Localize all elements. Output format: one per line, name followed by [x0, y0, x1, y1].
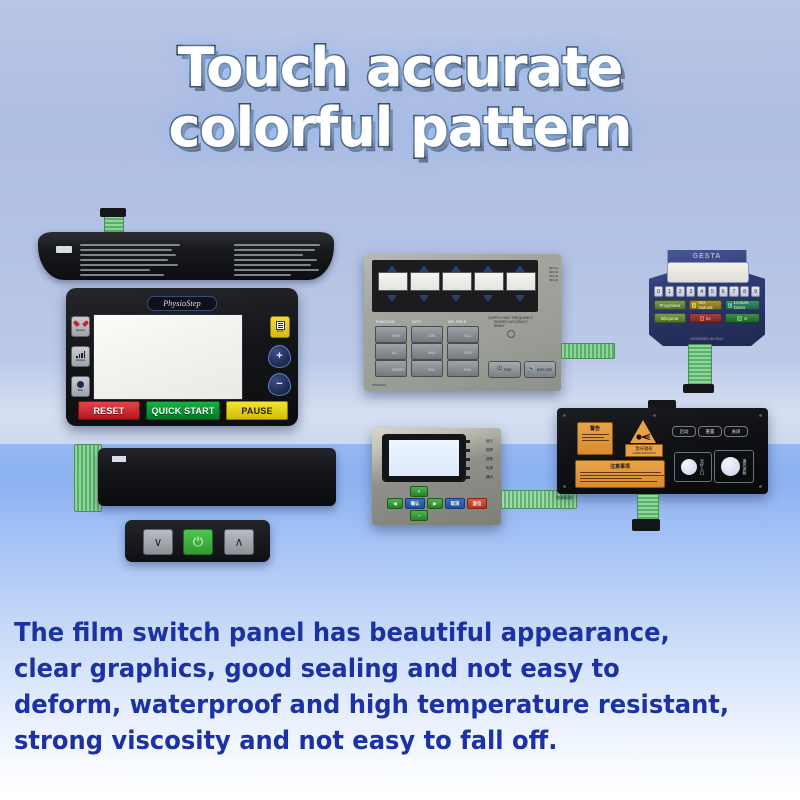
screw-icon-tr [759, 414, 762, 417]
power-button-label: PWR [504, 368, 511, 372]
down-key[interactable]: ∨ [143, 529, 173, 555]
enter-button[interactable]: Enter [71, 376, 90, 397]
speaker-button-label: EXPLODE [537, 368, 552, 372]
quick-start-button[interactable]: QUICK START [146, 401, 220, 420]
screw-icon-tl [563, 414, 566, 417]
product-three-key-bar: ∨ ⏻ ∧ [125, 520, 270, 562]
start-button[interactable]: 启动 [672, 426, 696, 437]
product-gesta-keypad: GESTA 0 1 2 3 4 5 6 7 8 9 Programar V Vo… [649, 250, 765, 346]
pause-button-label: PAUSE [241, 406, 272, 416]
led-indicator-1 [465, 449, 470, 452]
keypad-label-2: TARGET [392, 368, 404, 372]
port-circle-icon-1 [681, 459, 697, 475]
port-circle-icon-2 [721, 457, 740, 476]
gesta-display [667, 262, 749, 283]
bottom-button-row: ⏻ PWR 🔊 EXPLODE [488, 361, 556, 378]
up-arrow-icon-4[interactable] [483, 265, 493, 272]
bloquear-button[interactable]: Bloquear [654, 313, 686, 323]
keypad-label-1: ALL [392, 351, 397, 355]
st-label: st [744, 316, 747, 321]
increase-button[interactable]: + [410, 486, 428, 497]
num-key-8[interactable]: 8 [740, 286, 749, 297]
laser-beam-icon [635, 430, 651, 443]
left-arrow-icon: ◀ [393, 501, 396, 507]
cancel-button[interactable]: 取消 [445, 498, 465, 509]
enter-button-label: Enter [78, 389, 83, 392]
down-arrow-icon-2[interactable] [419, 295, 429, 302]
speaker-button[interactable]: 🔊 EXPLODE [524, 361, 557, 378]
confirm-button-label: 确认 [411, 501, 420, 507]
scroll-menu-button[interactable]: Scroll [270, 316, 290, 338]
decrease-button[interactable]: − [268, 373, 291, 396]
num-key-7[interactable]: 7 [729, 286, 738, 297]
reset-button-label-3: 重置 [706, 429, 715, 435]
notice-line-0 [580, 472, 661, 473]
plus-icon: + [276, 351, 282, 362]
screw-icon-bl [563, 485, 566, 488]
voz-natural-button[interactable]: V Voz Natural [689, 300, 722, 310]
keypad-key-5[interactable] [447, 343, 479, 360]
laser-hazard-label: 激光辐射 LASER RADIATION [625, 420, 661, 456]
kc-button[interactable]: K kc [689, 313, 722, 323]
workouts-button[interactable]: Workouts [71, 346, 90, 367]
kc-label: kc [706, 316, 710, 321]
screw-icon-br [759, 485, 762, 488]
keypad-key-2[interactable] [447, 326, 479, 343]
hazard-caption: 激光辐射 LASER RADIATION [625, 444, 663, 457]
frequency-scale: 500 Hz 200 Hz 100 Hz 050 Hz [549, 266, 558, 282]
product-laser-warning-panel: 警告 激光辐射 LASER RADIATION 注意事项 [557, 408, 768, 494]
programar-label: Programar [659, 303, 680, 308]
down-arrow-icon-3[interactable] [451, 295, 461, 302]
notice-label: 注意事项 [575, 460, 665, 488]
value-window-5 [506, 272, 536, 291]
warning-line-2 [582, 440, 609, 441]
black-label-body-2 [98, 448, 336, 506]
black-label-body [38, 232, 334, 280]
num-key-9[interactable]: 9 [751, 286, 760, 297]
screw-icon-tm [653, 414, 656, 417]
label-text-right [234, 244, 320, 279]
chevron-up-icon: ∧ [235, 535, 244, 549]
hazard-label-en: LASER RADIATION [626, 452, 662, 455]
reset-button-label: RESET [93, 406, 124, 416]
ready-indicator-label: READY [494, 324, 504, 328]
quick-start-button-label: QUICK START [151, 406, 214, 416]
column-header-1: DUTY [412, 320, 422, 324]
led-indicator-4 [465, 476, 470, 479]
workouts-button-label: Workouts [76, 359, 85, 362]
scroll-button-label: Scroll [277, 330, 284, 333]
keypad-label-0: HIGH [392, 334, 400, 338]
laser-cable-connector [632, 519, 660, 531]
product-banner: Touch accurate colorful pattern Physio [0, 0, 800, 800]
console-display [93, 314, 243, 400]
lcd-screen [389, 440, 459, 476]
close-button-label: 关闭 [732, 429, 741, 435]
product-silver-industrial-panel: 500 Hz 200 Hz 100 Hz 050 Hz SUPPLY HIGH … [364, 254, 561, 391]
num-key-2[interactable]: 2 [676, 286, 685, 297]
voz-natural-label: Voz Natural [698, 300, 718, 310]
gesta-cable-connector [683, 384, 714, 393]
keypad-label-8: RUN [464, 368, 471, 372]
brand-mark-icon-2 [112, 456, 126, 462]
bar-chart-icon [76, 351, 85, 358]
recovery-button-label: Recovery [76, 329, 85, 332]
warning-caption-text: WARNING [372, 383, 386, 387]
close-button[interactable]: 关闭 [724, 426, 748, 437]
led-label-4: 通讯 [486, 475, 493, 480]
scale-item-3: 050 Hz [549, 278, 558, 282]
keypad-label-6: FULL [464, 334, 471, 338]
keypad-key-8[interactable] [447, 360, 479, 377]
warning-title: 警告 [578, 425, 612, 432]
function-key-row-1: Programar V Voz Natural L Lectura Datos [654, 300, 760, 310]
num-key-5[interactable]: 5 [708, 286, 717, 297]
led-indicator-0 [465, 440, 470, 443]
cable-label: 电源接线 [556, 495, 572, 501]
brand-mark-icon [56, 246, 72, 253]
laser-emit-port: 激光发射 [714, 450, 754, 483]
notice-line-1 [580, 475, 664, 476]
bloquear-label: Bloquear [661, 316, 679, 321]
up-arrow-icon-3[interactable] [451, 265, 461, 272]
num-key-1[interactable]: 1 [665, 286, 674, 297]
increase-button[interactable]: + [268, 345, 291, 368]
laser-emit-label: 激光发射 [742, 459, 748, 475]
function-key-row-2: Bloquear K kc S st [654, 313, 760, 323]
gesta-brand-label: GESTA [649, 253, 765, 260]
led-label-0: 运行 [486, 439, 493, 444]
notice-title: 注意事项 [576, 463, 664, 470]
warning-line-0 [582, 434, 609, 435]
up-arrow-icon-1[interactable] [387, 265, 397, 272]
silver-panel-flex-cable [561, 343, 615, 359]
lcd-bezel [382, 434, 466, 482]
led-label-1: 故障 [486, 448, 493, 453]
decrease-button[interactable]: − [410, 510, 428, 521]
warning-line-1 [582, 437, 604, 438]
num-key-0[interactable]: 0 [654, 286, 663, 297]
down-arrow-icon-4[interactable] [483, 295, 493, 302]
minus-icon-2: − [418, 513, 421, 518]
reset-button-2[interactable]: 复位 [467, 498, 487, 509]
up-arrow-icon-2[interactable] [419, 265, 429, 272]
right-button[interactable]: ▶ [427, 498, 443, 509]
column-header-2: SEL FIELD [448, 320, 466, 324]
recovery-button[interactable]: Recovery [71, 316, 90, 337]
reset-button-3[interactable]: 重置 [698, 426, 722, 437]
lectura-datos-label: Lectura Datos [734, 300, 757, 310]
power-icon-2: ⏻ [497, 366, 502, 373]
fiber-input-label: 光纤入口 [699, 459, 705, 475]
keypad-key-7[interactable] [411, 360, 443, 377]
chevron-down-icon: ∨ [154, 535, 163, 549]
ready-indicator [507, 330, 515, 338]
confirm-button[interactable]: 确认 [405, 498, 425, 509]
up-key[interactable]: ∧ [224, 529, 254, 555]
minus-icon: − [276, 379, 282, 390]
power-icon: ⏻ [193, 534, 203, 550]
led-label-3: 电源 [486, 466, 493, 471]
num-key-4[interactable]: 4 [697, 286, 706, 297]
heart-icon [77, 321, 85, 328]
notice-line-2 [580, 478, 642, 479]
left-button[interactable]: ◀ [387, 498, 403, 509]
label-text-left [80, 244, 180, 279]
fiber-input-port: 光纤入口 [674, 452, 712, 482]
brand-name: PhysioStep [163, 299, 201, 308]
value-window-2 [410, 272, 440, 291]
voz-badge-icon: V [692, 303, 697, 308]
cable-connector [100, 208, 126, 217]
led-indicator-3 [465, 467, 470, 470]
programar-button[interactable]: Programar [654, 300, 686, 310]
up-arrow-icon-5[interactable] [515, 265, 525, 272]
brand-badge: PhysioStep [147, 296, 217, 311]
kc-badge-icon: K [700, 316, 705, 321]
description-paragraph: The film switch panel has beautiful appe… [14, 615, 732, 759]
keypad-label-3: LOW [428, 334, 435, 338]
keypad-key-3[interactable] [375, 343, 407, 360]
start-button-label: 启动 [680, 429, 689, 435]
keypad-label-7: LOOP [464, 351, 472, 355]
notice-line-3 [580, 481, 657, 482]
keypad-label-5: ECO [428, 368, 435, 372]
lectura-badge-icon: L [728, 303, 732, 308]
led-indicator-2 [465, 458, 470, 461]
st-badge-icon: S [737, 316, 742, 321]
keypad-key-0[interactable] [375, 326, 407, 343]
plus-icon-2: + [418, 489, 421, 494]
keypad-key-4[interactable] [411, 343, 443, 360]
panel-warning-caption: WARNING [372, 383, 386, 387]
st-button[interactable]: S st [725, 313, 760, 323]
product-physiostep-console: PhysioStep Recovery Workouts Enter Scrol… [66, 288, 298, 426]
numeric-keypad-row: 0 1 2 3 4 5 6 7 8 9 [654, 286, 760, 297]
value-window-4 [474, 272, 504, 291]
gesta-footer: DESIGNED IN ITALY [649, 337, 765, 341]
pause-button[interactable]: PAUSE [226, 401, 288, 420]
keypad-label-4: HALF [428, 351, 436, 355]
num-key-3[interactable]: 3 [686, 286, 695, 297]
value-window-3 [442, 272, 472, 291]
warning-label: 警告 [577, 422, 613, 455]
down-arrow-icon-1[interactable] [387, 295, 397, 302]
down-arrow-icon-5[interactable] [515, 295, 525, 302]
speaker-icon: 🔊 [527, 366, 534, 373]
gesta-flex-cable [688, 344, 712, 388]
lectura-datos-button[interactable]: L Lectura Datos [725, 300, 760, 310]
cancel-button-label: 取消 [451, 501, 460, 507]
right-arrow-icon: ▶ [433, 501, 436, 507]
column-header-0: FUNCTION [376, 320, 395, 324]
reset-button[interactable]: RESET [78, 401, 140, 420]
num-key-6[interactable]: 6 [719, 286, 728, 297]
list-icon [276, 321, 285, 330]
power-key[interactable]: ⏻ [183, 529, 213, 555]
product-lcd-controller: 运行 故障 报警 电源 通讯 + ◀ 确认 ▶ 取消 复位 − 电源接线 [372, 428, 501, 525]
panel-subtitle: SUPPLY HIGH FREQUENCY SHAPED ACCURACY [488, 316, 533, 324]
led-label-2: 报警 [486, 457, 493, 462]
power-button[interactable]: ⏻ PWR [488, 361, 521, 378]
keypad-key-1[interactable] [411, 326, 443, 343]
circle-icon [77, 381, 84, 388]
value-window-1 [378, 272, 408, 291]
reset-button-label-2: 复位 [473, 501, 482, 507]
